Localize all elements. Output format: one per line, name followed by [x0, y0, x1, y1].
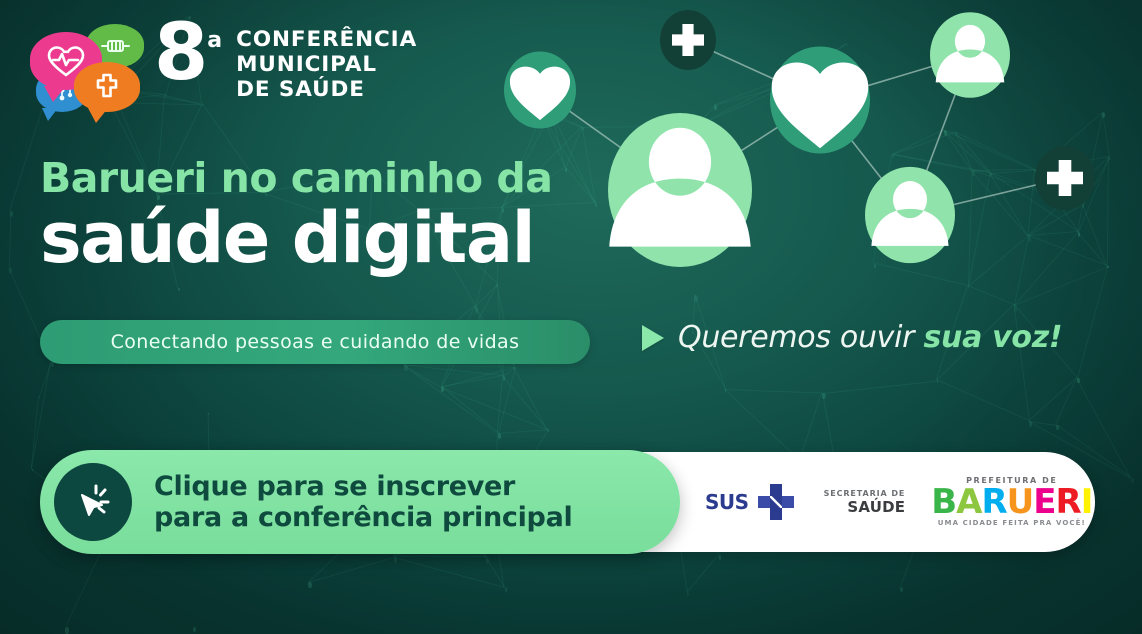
network-node-heart-small-left [504, 51, 576, 128]
voice-callout: Queremos ouvir sua voz! [642, 320, 1062, 355]
conference-title-line-2: MUNICIPAL [236, 53, 417, 78]
secretaria-saude-logo: SECRETARIA DE SAÚDE [824, 490, 906, 515]
texture-dot [505, 587, 508, 592]
texture-dot [486, 557, 489, 563]
texture-dot [937, 380, 938, 383]
register-cta-button[interactable]: Clique para se inscrever para a conferên… [40, 450, 680, 554]
texture-line [404, 364, 503, 375]
texture-line [441, 367, 515, 388]
texture-dot [1014, 305, 1017, 312]
network-node-heart-center [770, 47, 870, 154]
texture-line [822, 380, 936, 393]
texture-line [404, 365, 498, 433]
headline-line-1: Barueri no caminho da [40, 158, 552, 199]
voice-callout-text: Queremos ouvir sua voz! [678, 320, 1062, 355]
texture-line [514, 367, 548, 430]
texture-line [497, 376, 503, 433]
barueri-letter-3: U [1007, 486, 1034, 518]
play-triangle-icon [642, 325, 664, 351]
subtitle-text: Conectando pessoas e cuidando de vidas [111, 331, 520, 353]
texture-line [404, 365, 514, 367]
conference-title-line-1: CONFERÊNCIA [236, 28, 417, 53]
texture-dot [308, 582, 312, 589]
texture-line [39, 362, 52, 397]
texture-line [308, 557, 394, 583]
texture-dot [32, 469, 33, 471]
texture-line [725, 389, 823, 394]
cta-label: Clique para se inscrever para a conferên… [154, 471, 572, 534]
texture-line [9, 105, 44, 211]
texture-line [441, 375, 503, 387]
texture-line [441, 386, 498, 433]
cta-icon-circle [54, 463, 132, 541]
texture-line [1029, 378, 1078, 422]
texture-line [1029, 421, 1056, 426]
texture-line [503, 367, 515, 377]
barueri-letter-6: I [1081, 486, 1093, 518]
voice-text-normal: Queremos ouvir [678, 320, 923, 355]
texture-dot [503, 376, 506, 381]
barueri-tagline: UMA CIDADE FEITA PRA VOCÊ! [938, 520, 1086, 527]
click-cursor-icon [72, 481, 114, 523]
texture-dot [1029, 421, 1032, 426]
texture-dot [10, 211, 13, 217]
cta-line-2: para a conferência principal [154, 502, 572, 533]
texture-dot [1077, 378, 1079, 382]
texture-dot [394, 557, 397, 563]
barueri-logo: PREFEITURA DE BARUERI UMA CIDADE FEITA P… [931, 477, 1092, 526]
texture-dot [725, 389, 726, 392]
sus-logo: SUS [705, 480, 798, 524]
network-node-plus-top [660, 10, 716, 70]
texture-line [498, 429, 548, 434]
edition-ordinal: a [207, 28, 222, 53]
texture-line [394, 556, 486, 558]
texture-line [822, 393, 835, 459]
texture-dot [498, 433, 501, 440]
network-node-person-top-right [930, 12, 1010, 98]
texture-dot [900, 587, 903, 592]
health-network-graphic [480, 0, 1142, 300]
texture-line [1055, 378, 1077, 425]
secretaria-label: SECRETARIA DE [824, 490, 906, 498]
barueri-letter-4: E [1033, 486, 1055, 518]
cross-bubble [74, 62, 140, 112]
network-node-plus-right [1035, 146, 1095, 210]
texture-dot [441, 387, 444, 392]
texture-dot [65, 627, 68, 633]
speech-bubbles-cluster [24, 18, 146, 118]
partner-logos: SUS SECRETARIA DE SAÚDE PREFEITURA DE BA… [705, 470, 1092, 534]
texture-dot [208, 413, 209, 415]
conference-logo-lockup: 8 a CONFERÊNCIA MUNICIPAL DE SAÚDE [24, 18, 417, 118]
network-node-person-large [608, 113, 752, 267]
texture-dot [1056, 425, 1058, 430]
barueri-letter-0: B [931, 486, 956, 518]
headline-block: Barueri no caminho da saúde digital [40, 158, 552, 274]
barueri-letter-1: A [956, 486, 981, 518]
network-node-person-bottom-right [865, 167, 955, 263]
texture-line [724, 389, 800, 461]
barueri-letter-5: R [1056, 486, 1081, 518]
texture-dot [514, 367, 515, 370]
texture-line [485, 557, 505, 587]
texture-line [1076, 378, 1131, 478]
texture-line [799, 392, 822, 460]
texture-line [498, 367, 516, 433]
conference-title-lines: CONFERÊNCIA MUNICIPAL DE SAÚDE [236, 28, 417, 103]
texture-dot [822, 393, 825, 399]
texture-dot [193, 627, 196, 632]
medical-cross-icon [92, 72, 122, 102]
texture-line [686, 555, 719, 593]
texture-line [441, 387, 548, 430]
texture-line [404, 365, 441, 388]
texture-dot [39, 396, 41, 399]
sus-wordmark: SUS [705, 490, 749, 514]
syringe-icon [98, 37, 132, 55]
texture-dot [404, 365, 407, 371]
barueri-wordmark: BARUERI [931, 486, 1092, 518]
saude-label: SAÚDE [847, 500, 905, 515]
texture-line [937, 380, 1030, 422]
texture-line [393, 557, 504, 588]
texture-dot [548, 429, 550, 432]
texture-dot [1131, 478, 1134, 483]
voice-text-bold: sua voz! [923, 320, 1062, 355]
texture-line [9, 211, 11, 268]
sus-cross-icon [754, 480, 798, 524]
cta-line-1: Clique para se inscrever [154, 471, 572, 502]
headline-line-2: saúde digital [40, 203, 552, 274]
texture-dot [687, 593, 689, 596]
texture-dot [9, 267, 12, 273]
subtitle-pill: Conectando pessoas e cuidando de vidas [40, 320, 590, 364]
texture-line [31, 362, 51, 470]
texture-dot [178, 288, 180, 291]
conference-title-line-3: DE SAÚDE [236, 78, 417, 103]
texture-line [502, 376, 548, 430]
barueri-letter-2: R [981, 486, 1006, 518]
edition-number: 8 [154, 22, 205, 86]
texture-dot [475, 306, 478, 312]
texture-line [31, 396, 39, 469]
conference-banner: 8 a CONFERÊNCIA MUNICIPAL DE SAÚDE Barue… [0, 0, 1142, 634]
conference-title-block: 8 a CONFERÊNCIA MUNICIPAL DE SAÚDE [154, 18, 417, 103]
texture-dot [719, 555, 722, 560]
